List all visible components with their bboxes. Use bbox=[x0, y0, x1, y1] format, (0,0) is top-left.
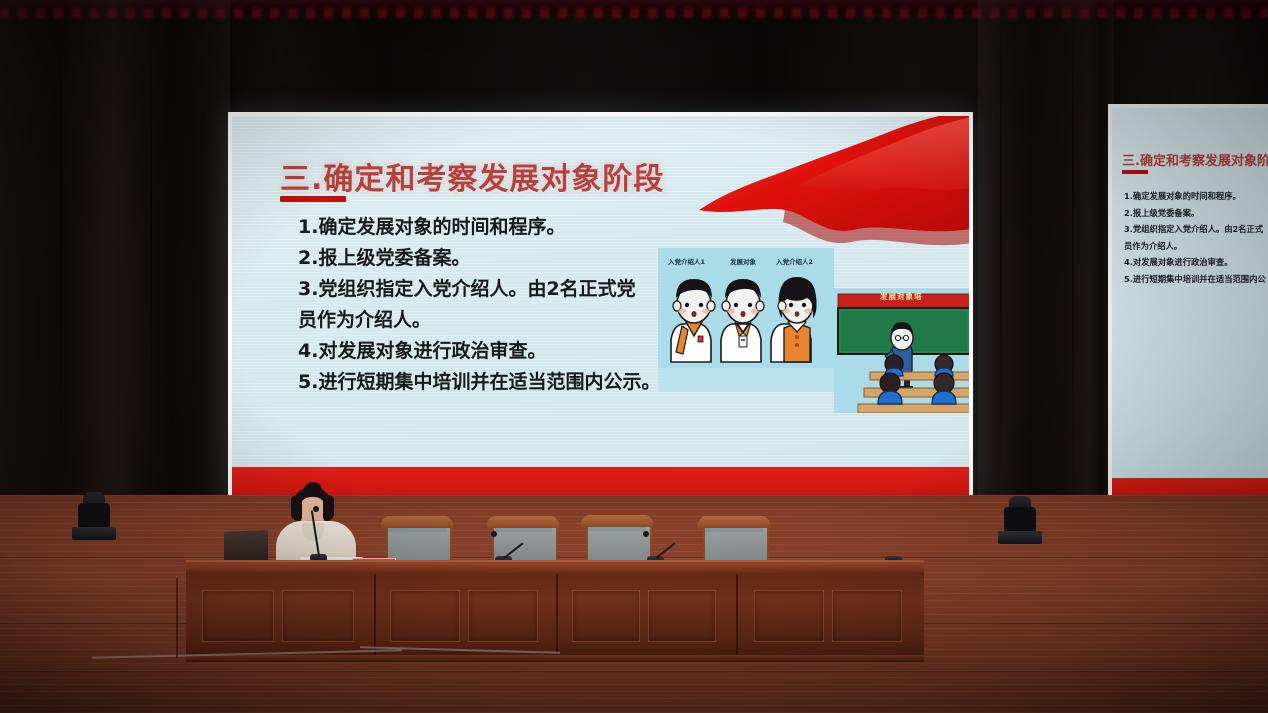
illustration-label-sponsor-1: 入党介绍人1 bbox=[668, 256, 705, 266]
side-slide-bullet: 员作为介绍人。 bbox=[1124, 238, 1268, 255]
side-slide-bullet: 3.党组织指定入党介绍人。由2名正式 bbox=[1124, 221, 1268, 238]
classroom-scene bbox=[834, 288, 969, 413]
table-segment bbox=[738, 574, 924, 662]
table-segment bbox=[186, 574, 376, 662]
slide-surface: 三.确定和考察发展对象阶段 1.确定发展对象的时间和程序。 2.报上级党委备案。… bbox=[232, 116, 969, 503]
sponsors-figures bbox=[658, 248, 834, 392]
microphone-head bbox=[491, 531, 497, 537]
curtain-fold bbox=[1000, 0, 1002, 500]
slide-illustration: 入党介绍人1 发展对象 入党介绍人2 bbox=[658, 248, 969, 406]
laptop[interactable] bbox=[224, 530, 268, 564]
microphone-head bbox=[643, 531, 649, 537]
illustration-label-target: 发展对象 bbox=[730, 256, 756, 266]
curtain-fold bbox=[60, 0, 62, 500]
side-slide-bullet: 4.对发展对象进行政治审查。 bbox=[1124, 254, 1268, 271]
table-front-panels bbox=[186, 574, 924, 662]
curtain-fold bbox=[1072, 0, 1074, 500]
projection-screen: 三.确定和考察发展对象阶段 1.确定发展对象的时间和程序。 2.报上级党委备案。… bbox=[228, 112, 973, 507]
slide-title-rule bbox=[280, 196, 346, 202]
moving-head-light-right bbox=[998, 492, 1042, 544]
screenshot-root: 三.确定和考察发展对象阶段 1.确定发展对象的时间和程序。 2.报上级党委备案。… bbox=[0, 0, 1268, 713]
wall-panel-left-2 bbox=[112, 0, 230, 500]
side-slide-bullet: 1.确定发展对象的时间和程序。 bbox=[1124, 188, 1268, 205]
illustration-board-banner: 发展对象培 bbox=[880, 291, 923, 302]
side-slide-title-rule bbox=[1122, 170, 1148, 174]
side-slide-title: 三.确定和考察发展对象阶 bbox=[1122, 150, 1268, 169]
table-segment bbox=[558, 574, 738, 662]
microphone-head bbox=[313, 506, 319, 512]
illustration-classroom-panel: 发展对象培 bbox=[834, 288, 969, 413]
curtain-fold bbox=[150, 0, 152, 500]
illustration-label-sponsor-2: 入党介绍人2 bbox=[776, 256, 813, 266]
side-projection-screen: 三.确定和考察发展对象阶 1.确定发展对象的时间和程序。 2.报上级党委备案。 … bbox=[1108, 104, 1268, 508]
side-slide-bullet: 5.进行短期集中培训并在适当范围内公 bbox=[1124, 271, 1268, 288]
side-slide-bullet-list: 1.确定发展对象的时间和程序。 2.报上级党委备案。 3.党组织指定入党介绍人。… bbox=[1124, 188, 1268, 288]
moving-head-light-left bbox=[72, 488, 116, 540]
side-slide-surface: 三.确定和考察发展对象阶 1.确定发展对象的时间和程序。 2.报上级党委备案。 … bbox=[1112, 108, 1268, 504]
illustration-sponsors-panel: 入党介绍人1 发展对象 入党介绍人2 bbox=[658, 248, 834, 392]
side-slide-bullet: 2.报上级党委备案。 bbox=[1124, 205, 1268, 222]
slide-title: 三.确定和考察发展对象阶段 bbox=[280, 154, 664, 198]
table-cable bbox=[176, 578, 184, 658]
wall-panel-left-1 bbox=[0, 0, 112, 500]
slide-bullet: 1.确定发展对象的时间和程序。 bbox=[298, 214, 728, 242]
